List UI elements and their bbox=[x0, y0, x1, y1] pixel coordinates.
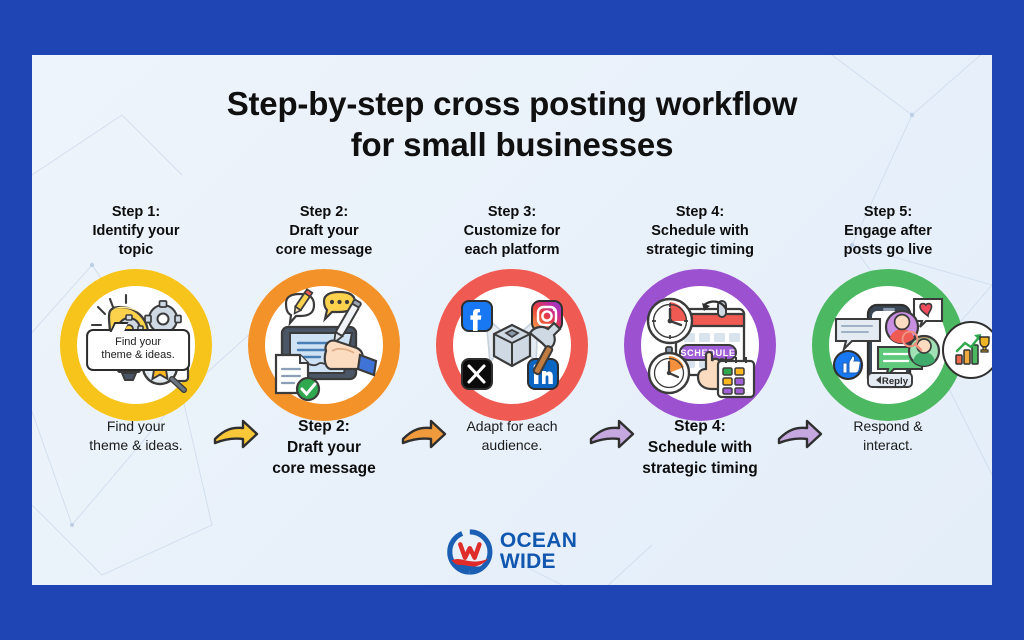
step-5-ring: Reply bbox=[812, 269, 964, 421]
bubble-line-1: Find your bbox=[92, 336, 184, 349]
step-2-artwork bbox=[268, 289, 380, 401]
arrow-step-3-to-4 bbox=[589, 417, 635, 451]
svg-text:Reply: Reply bbox=[882, 376, 909, 387]
step-3-artwork bbox=[456, 289, 568, 401]
pencil-bubble-icon bbox=[286, 289, 314, 323]
step-2-heading: Step 2: Draft your core message bbox=[276, 203, 373, 263]
brand-logo-line-1: OCEAN bbox=[500, 531, 577, 552]
step-2-heading-line-1: Step 2: bbox=[276, 203, 373, 222]
step-1-heading-line-3: topic bbox=[92, 241, 179, 260]
step-5-heading-line-3: posts go live bbox=[844, 241, 933, 260]
step-1-speech-bubble: Find your theme & ideas. bbox=[86, 329, 190, 371]
bubble-line-2: theme & ideas. bbox=[92, 349, 184, 362]
chart-trophy-badge bbox=[942, 321, 992, 379]
brand-logo: OCEAN WIDE bbox=[447, 529, 577, 575]
step-4-heading-line-3: strategic timing bbox=[646, 241, 754, 260]
bubble-tail bbox=[110, 322, 129, 332]
poster-panel: Step-by-step cross posting workflow for … bbox=[32, 55, 992, 585]
brand-logo-line-2: WIDE bbox=[500, 552, 577, 573]
facebook-icon bbox=[462, 301, 492, 331]
step-1-heading: Step 1: Identify your topic bbox=[92, 203, 179, 263]
step-1[interactable]: Step 1: Identify your topic bbox=[42, 203, 230, 563]
arrow-step-1-to-2 bbox=[213, 417, 259, 451]
step-4-heading-line-2: Schedule with bbox=[646, 222, 754, 241]
step-4[interactable]: Step 4: Schedule with strategic timing bbox=[606, 203, 794, 563]
arrow-step-2-to-3 bbox=[401, 417, 447, 451]
step-3-heading-line-3: each platform bbox=[464, 241, 561, 260]
avatar-green-icon bbox=[909, 336, 939, 366]
step-5[interactable]: Step 5: Engage after posts go live bbox=[794, 203, 982, 563]
step-2-ring bbox=[248, 269, 400, 421]
step-3-ring bbox=[436, 269, 588, 421]
step-4-caption-line-3: strategic timing bbox=[592, 459, 808, 480]
ocean-wide-emblem-icon bbox=[447, 529, 493, 575]
step-2-heading-line-3: core message bbox=[276, 241, 373, 260]
step-5-heading: Step 5: Engage after posts go live bbox=[844, 203, 933, 263]
chart-trophy-icon bbox=[950, 329, 992, 371]
step-4-heading-line-1: Step 4: bbox=[646, 203, 754, 222]
step-2[interactable]: Step 2: Draft your core message bbox=[230, 203, 418, 563]
step-3-heading-line-1: Step 3: bbox=[464, 203, 561, 222]
workflow-steps: Step 1: Identify your topic bbox=[42, 203, 982, 563]
clock-icon bbox=[648, 299, 692, 343]
reply-button: Reply bbox=[868, 373, 912, 387]
poster-frame: Step-by-step cross posting workflow for … bbox=[0, 0, 1024, 640]
step-2-caption-line-3: core message bbox=[216, 459, 432, 480]
step-2-heading-line-2: Draft your bbox=[276, 222, 373, 241]
mini-calendar-icon bbox=[718, 357, 754, 397]
step-5-artwork: Reply bbox=[832, 289, 944, 401]
step-1-heading-line-1: Step 1: bbox=[92, 203, 179, 222]
step-4-heading: Step 4: Schedule with strategic timing bbox=[646, 203, 754, 263]
title-line-2: for small businesses bbox=[32, 124, 992, 165]
step-4-artwork: SCHEDULE bbox=[644, 289, 756, 401]
step-3[interactable]: Step 3: Customize for each platform bbox=[418, 203, 606, 563]
thumbs-up-icon bbox=[834, 351, 862, 379]
step-4-ring: SCHEDULE bbox=[624, 269, 776, 421]
page-title: Step-by-step cross posting workflow for … bbox=[32, 83, 992, 166]
step-3-heading-line-2: Customize for bbox=[464, 222, 561, 241]
step-3-heading: Step 3: Customize for each platform bbox=[464, 203, 561, 263]
step-5-heading-line-1: Step 5: bbox=[844, 203, 933, 222]
title-line-1: Step-by-step cross posting workflow bbox=[32, 83, 992, 124]
cube-icon bbox=[494, 325, 530, 366]
arrow-step-4-to-5 bbox=[777, 417, 823, 451]
step-5-heading-line-2: Engage after bbox=[844, 222, 933, 241]
x-twitter-icon bbox=[462, 359, 492, 389]
brand-logo-text: OCEAN WIDE bbox=[500, 531, 577, 572]
step-1-heading-line-2: Identify your bbox=[92, 222, 179, 241]
